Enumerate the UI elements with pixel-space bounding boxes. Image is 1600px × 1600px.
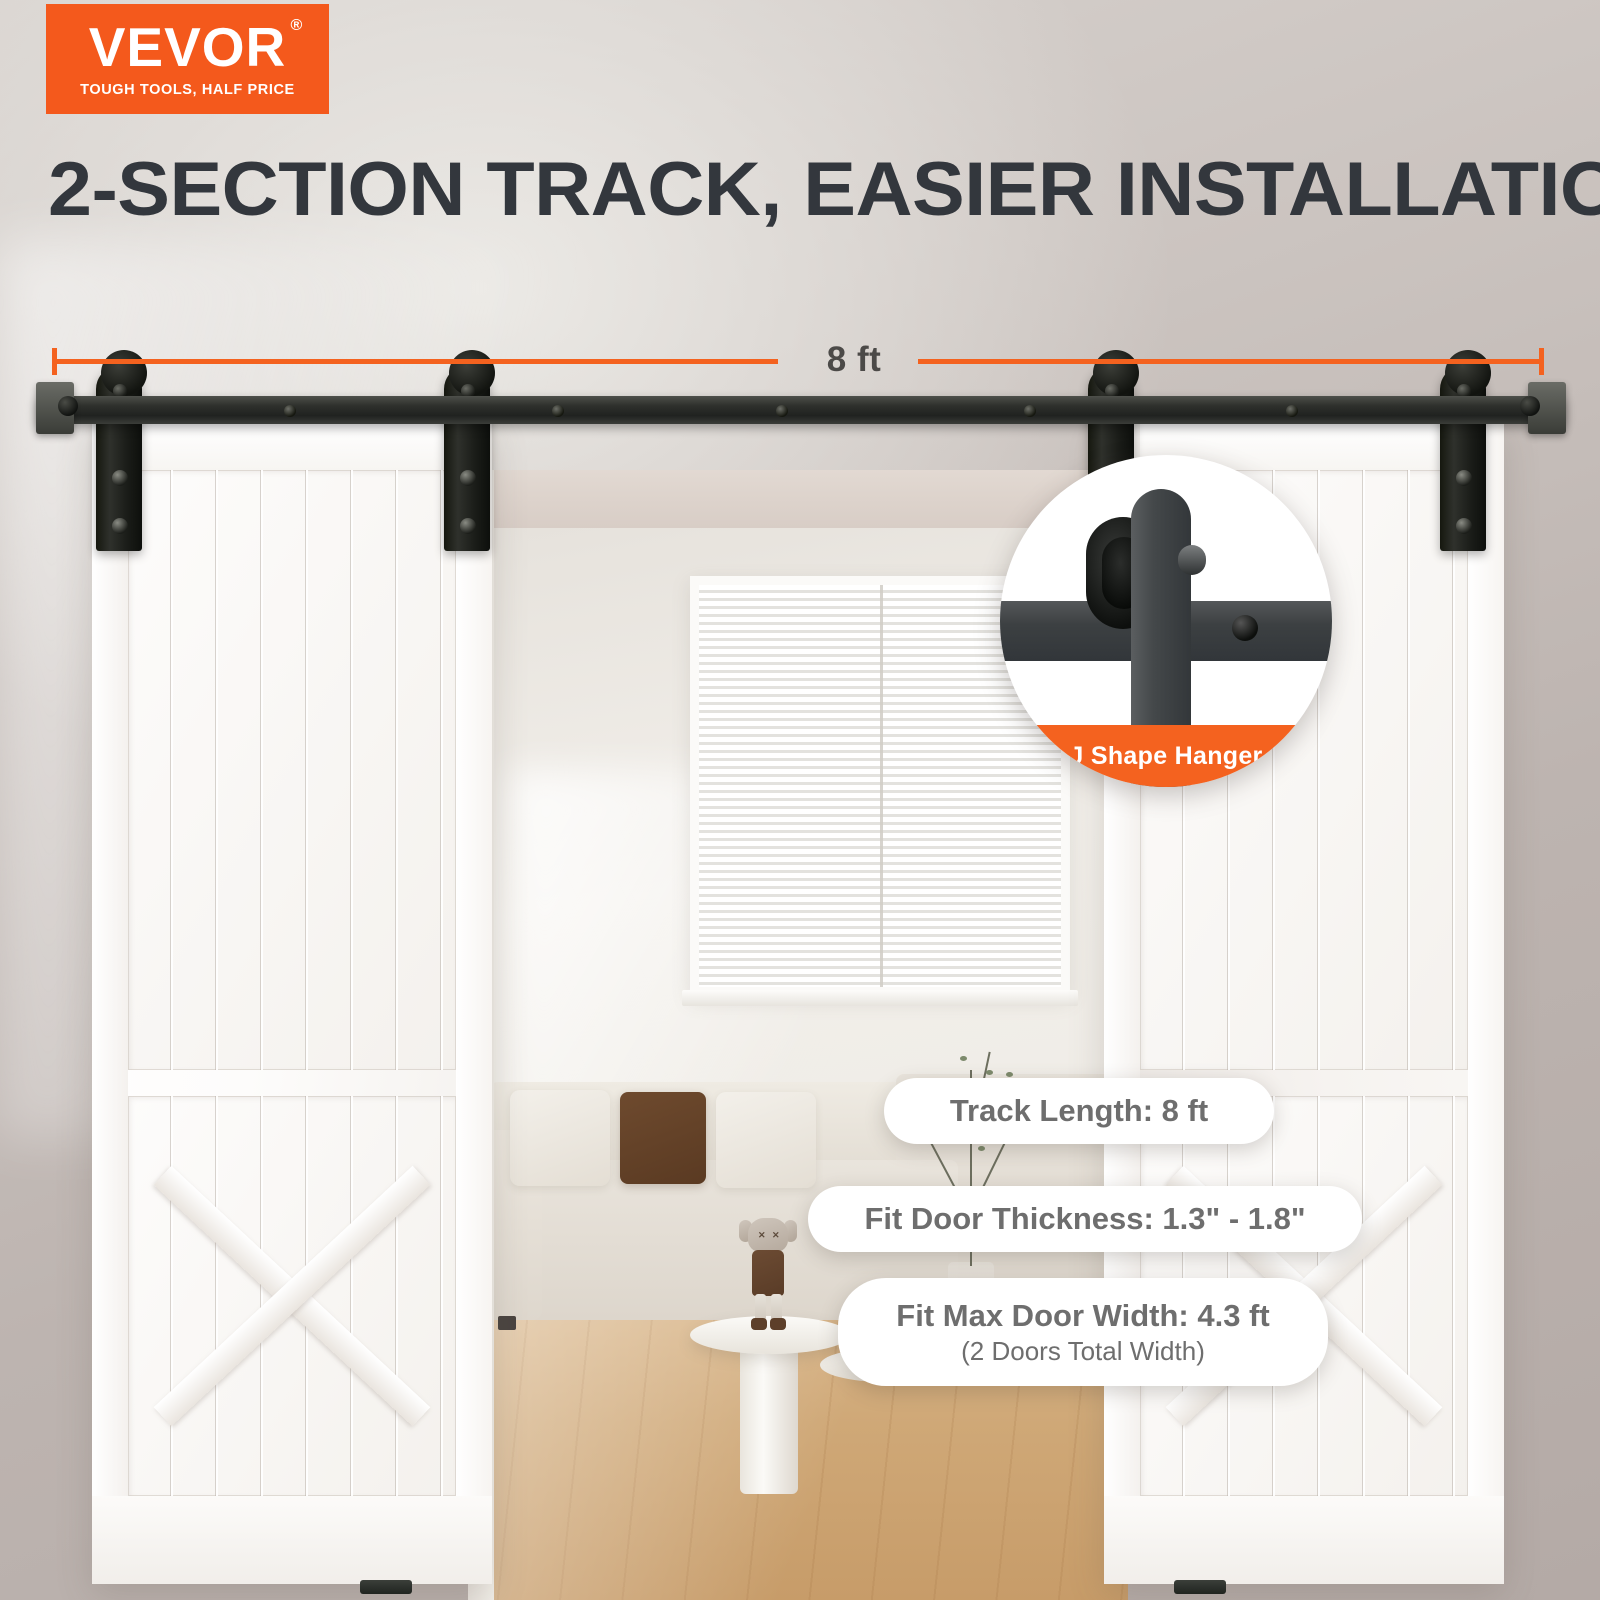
spec-pill-subtext: (2 Doors Total Width) — [961, 1336, 1205, 1367]
spec-callout-group: Track Length: 8 ft Fit Door Thickness: 1… — [0, 0, 1600, 1600]
logo-brand-text: VEVOR — [89, 16, 287, 78]
spec-pill-text: Track Length: 8 ft — [950, 1093, 1208, 1129]
spec-pill-track-length: Track Length: 8 ft — [884, 1078, 1274, 1144]
spec-pill-text: Fit Max Door Width: 4.3 ft — [896, 1298, 1269, 1334]
spec-pill-max-door-width: Fit Max Door Width: 4.3 ft (2 Doors Tota… — [838, 1278, 1328, 1386]
spec-pill-text: Fit Door Thickness: 1.3" - 1.8" — [864, 1201, 1305, 1237]
product-scene: ✕ ✕ — [0, 0, 1600, 1600]
page-title: 2-SECTION TRACK, EASIER INSTALLATION — [48, 152, 1600, 228]
spec-pill-door-thickness: Fit Door Thickness: 1.3" - 1.8" — [808, 1186, 1362, 1252]
registered-trademark-icon: ® — [290, 18, 303, 34]
logo-wordmark: VEVOR ® — [89, 20, 287, 75]
vevor-logo: VEVOR ® TOUGH TOOLS, HALF PRICE — [46, 4, 329, 114]
logo-tagline: TOUGH TOOLS, HALF PRICE — [80, 82, 295, 98]
